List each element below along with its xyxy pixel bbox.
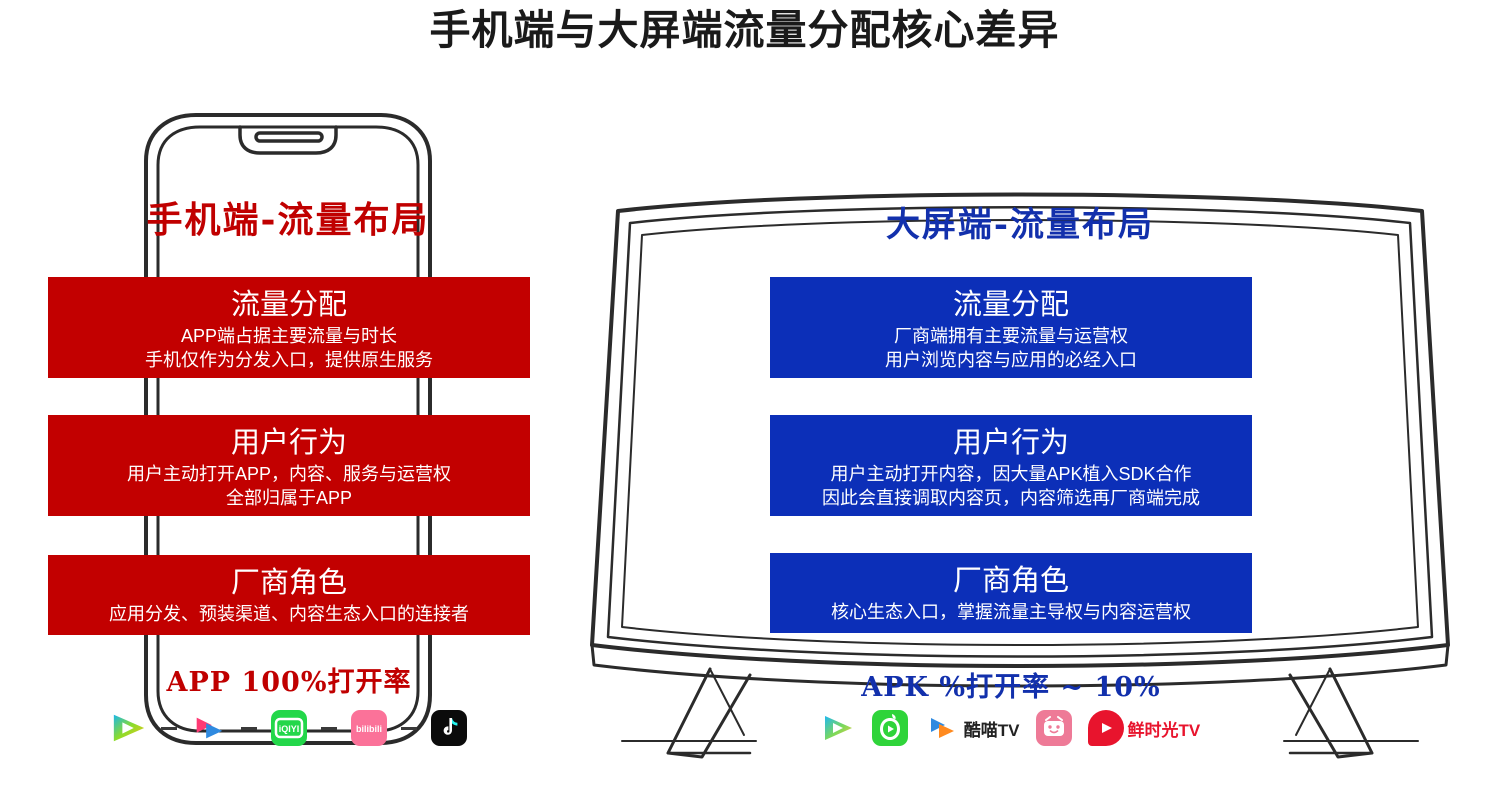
logo-douyin <box>431 710 467 746</box>
bilibili-tv-icon <box>1036 710 1072 746</box>
card-title: 厂商角色 <box>48 564 530 602</box>
phone-app-logo-row: YOUKU iQIYI bilibili <box>48 705 530 751</box>
logo-bilibili-tv <box>1036 710 1072 746</box>
yunshiting-jiguang-icon: 云视听极光 <box>820 710 856 746</box>
card-line: 核心生态入口，掌握流量主导权与内容运营权 <box>770 600 1252 624</box>
svg-text:iQIYI: iQIYI <box>279 724 300 734</box>
mangguo-tv-icon <box>872 710 908 746</box>
card-title: 用户行为 <box>770 424 1252 462</box>
card-title: 用户行为 <box>48 424 530 462</box>
phone-card-traffic: 流量分配 APP端占据主要流量与时长 手机仅作为分发入口，提供原生服务 <box>48 277 530 378</box>
phone-section-header: 手机端-流量布局 <box>18 191 558 243</box>
phone-open-rate-text: APP 100%打开率 <box>48 660 530 699</box>
logo-tencent-video <box>111 710 147 746</box>
youku-icon: YOUKU <box>191 710 227 746</box>
phone-panel: 手机端-流量布局 流量分配 APP端占据主要流量与时长 手机仅作为分发入口，提供… <box>18 95 558 785</box>
tv-section-header: 大屏端-流量布局 <box>560 197 1480 246</box>
card-title: 流量分配 <box>770 286 1252 324</box>
xianshiguang-tv-icon <box>1088 710 1124 746</box>
connector-dash <box>401 727 417 730</box>
tv-app-logo-row: 云视听极光 <box>730 705 1290 751</box>
card-title: 厂商角色 <box>770 562 1252 600</box>
card-line: 全部归属于APP <box>48 486 530 510</box>
card-line: 手机仅作为分发入口，提供原生服务 <box>48 348 530 372</box>
card-title: 流量分配 <box>48 286 530 324</box>
card-line: 用户浏览内容与应用的必经入口 <box>770 348 1252 372</box>
connector-dash <box>161 727 177 730</box>
tencent-video-icon <box>111 710 147 746</box>
card-line: 用户主动打开内容，因大量APK植入SDK合作 <box>770 462 1252 486</box>
card-line: 用户主动打开APP，内容、服务与运营权 <box>48 462 530 486</box>
iqiyi-icon: iQIYI <box>271 710 307 746</box>
svg-text:bilibili: bilibili <box>356 724 382 734</box>
logo-youku: YOUKU <box>191 710 227 746</box>
logo-yunshiting-jiguang: 云视听极光 <box>820 710 856 746</box>
logo-bilibili: bilibili <box>351 710 387 746</box>
phone-card-user-behavior: 用户行为 用户主动打开APP，内容、服务与运营权 全部归属于APP <box>48 415 530 516</box>
tv-open-rate-text: APK %打开率 ~ 10% <box>770 665 1252 704</box>
card-line: APP端占据主要流量与时长 <box>48 324 530 348</box>
card-line: 应用分发、预装渠道、内容生态入口的连接者 <box>48 602 530 626</box>
tv-card-traffic: 流量分配 厂商端拥有主要流量与运营权 用户浏览内容与应用的必经入口 <box>770 277 1252 378</box>
card-line: 厂商端拥有主要流量与运营权 <box>770 324 1252 348</box>
phone-card-vendor-role: 厂商角色 应用分发、预装渠道、内容生态入口的连接者 <box>48 555 530 635</box>
page-title: 手机端与大屏端流量分配核心差异 <box>0 2 1489 58</box>
bilibili-icon: bilibili <box>351 710 387 746</box>
douyin-icon <box>431 710 467 746</box>
logo-xianshiguang-tv: 鲜时光TV <box>1088 710 1201 746</box>
infographic-root: 手机端与大屏端流量分配核心差异 手机端-流量布局 流量分配 APP端占据主要流量… <box>0 0 1489 789</box>
logo-iqiyi: iQIYI <box>271 710 307 746</box>
kumiao-tv-icon <box>924 710 960 746</box>
kumiao-tv-label: 酷喵TV <box>964 716 1020 741</box>
xianshiguang-tv-label: 鲜时光TV <box>1128 716 1201 741</box>
logo-kumiao-tv: 酷喵TV <box>924 710 1020 746</box>
tv-panel: 大屏端-流量布局 流量分配 厂商端拥有主要流量与运营权 用户浏览内容与应用的必经… <box>560 175 1480 785</box>
tv-card-vendor-role: 厂商角色 核心生态入口，掌握流量主导权与内容运营权 <box>770 553 1252 633</box>
connector-dash <box>321 727 337 730</box>
logo-mangguo-tv <box>872 710 908 746</box>
connector-dash <box>241 727 257 730</box>
tv-card-user-behavior: 用户行为 用户主动打开内容，因大量APK植入SDK合作 因此会直接调取内容页，内… <box>770 415 1252 516</box>
card-line: 因此会直接调取内容页，内容筛选再厂商端完成 <box>770 486 1252 510</box>
